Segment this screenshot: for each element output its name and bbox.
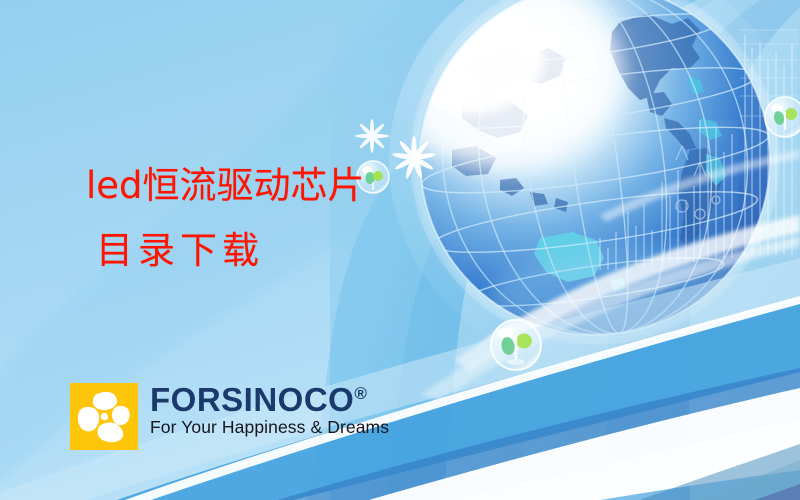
company-logo[interactable]: FORSINOCO® For Your Happiness & Dreams [70, 383, 389, 450]
forsinoco-pinwheel-mark-icon [70, 383, 138, 450]
bubble-leaf-right [765, 97, 800, 137]
logo-wordmark: FORSINOCO® [150, 383, 389, 417]
bubble-leaf-center [491, 320, 541, 370]
flower-small [355, 119, 389, 153]
logo-text-block: FORSINOCO® For Your Happiness & Dreams [150, 383, 389, 437]
logo-wordmark-text: FORSINOCO [150, 381, 354, 418]
promo-banner: led恒流驱动芯片 目录下载 [0, 0, 800, 500]
headline-line-1: led恒流驱动芯片 [86, 167, 365, 204]
headline-line-2: 目录下载 [96, 232, 264, 269]
logo-tagline: For Your Happiness & Dreams [150, 418, 389, 437]
registered-trademark-symbol: ® [354, 384, 367, 403]
